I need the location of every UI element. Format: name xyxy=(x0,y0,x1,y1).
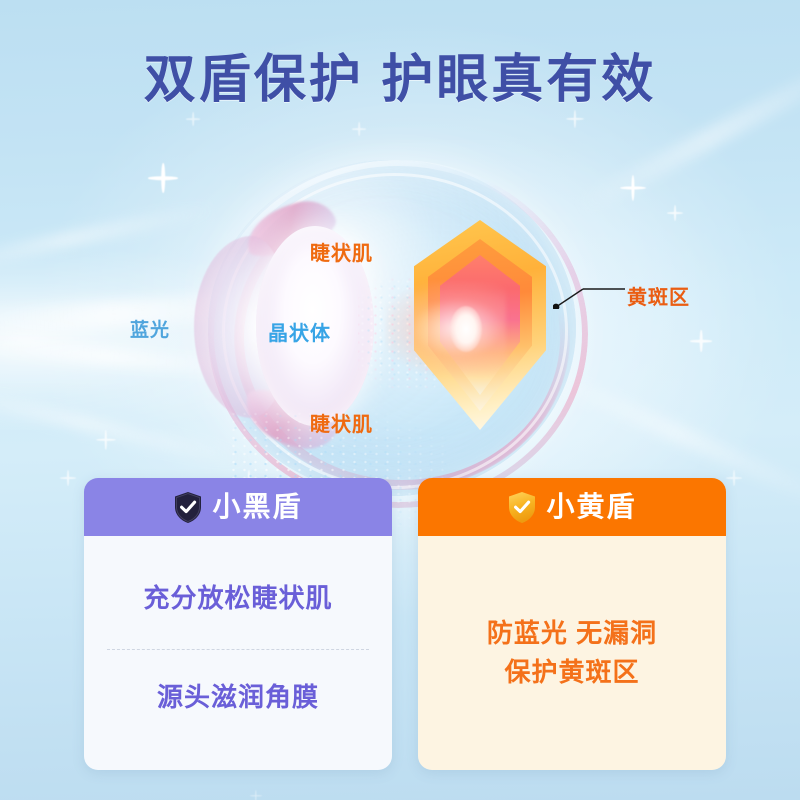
card-body-black-shield: 充分放松睫状肌 源头滋润角膜 xyxy=(84,536,392,770)
sparkle-icon xyxy=(250,790,262,800)
card-header-yellow-shield: 小黄盾 xyxy=(418,478,726,536)
poster-canvas: 双盾保护 护眼真有效 蓝光 晶状体 睫状肌 睫状肌 黄斑区 xyxy=(0,0,800,800)
shield-check-gold-icon xyxy=(507,491,537,524)
label-blue-light: 蓝光 xyxy=(130,315,170,342)
feature-text: 充分放松睫状肌 xyxy=(143,581,332,616)
card-black-shield[interactable]: 小黑盾 充分放松睫状肌 源头滋润角膜 xyxy=(84,478,392,770)
shield-check-dark-icon xyxy=(173,491,203,524)
sparkle-icon xyxy=(620,175,646,201)
sparkle-icon xyxy=(566,110,584,128)
sparkle-icon xyxy=(667,205,683,221)
label-ciliary-muscle-top: 睫状肌 xyxy=(310,237,373,266)
card-body-yellow-shield: 防蓝光 无漏洞 保护黄斑区 xyxy=(418,536,726,770)
card-title-yellow-shield: 小黄盾 xyxy=(546,493,636,521)
eye-anatomy-illustration xyxy=(208,160,576,496)
feature-text: 源头滋润角膜 xyxy=(157,680,319,715)
card-header-black-shield: 小黑盾 xyxy=(84,478,392,536)
macula-shape xyxy=(414,220,546,430)
sparkle-icon xyxy=(690,330,712,352)
macula-hotspot xyxy=(450,306,482,352)
macula-glow xyxy=(386,282,506,374)
label-lens: 晶状体 xyxy=(268,317,331,346)
card-divider xyxy=(107,649,369,650)
label-macula: 黄斑区 xyxy=(627,281,690,310)
feature-cards: 小黑盾 充分放松睫状肌 源头滋润角膜 xyxy=(0,478,800,778)
feature-stack: 防蓝光 无漏洞 保护黄斑区 xyxy=(487,616,657,690)
label-ciliary-muscle-bottom: 睫状肌 xyxy=(310,408,373,437)
card-yellow-shield[interactable]: 小黄盾 防蓝光 无漏洞 保护黄斑区 xyxy=(418,478,726,770)
feature-text: 保护黄斑区 xyxy=(504,655,639,690)
sparkle-icon xyxy=(96,430,116,450)
page-title: 双盾保护 护眼真有效 xyxy=(0,52,800,109)
light-ray xyxy=(0,201,218,273)
sparkle-icon xyxy=(352,122,366,136)
card-title-black-shield: 小黑盾 xyxy=(212,493,302,521)
sparkle-icon xyxy=(148,163,178,193)
feature-text: 防蓝光 无漏洞 xyxy=(487,616,657,651)
sparkle-icon xyxy=(186,112,200,126)
